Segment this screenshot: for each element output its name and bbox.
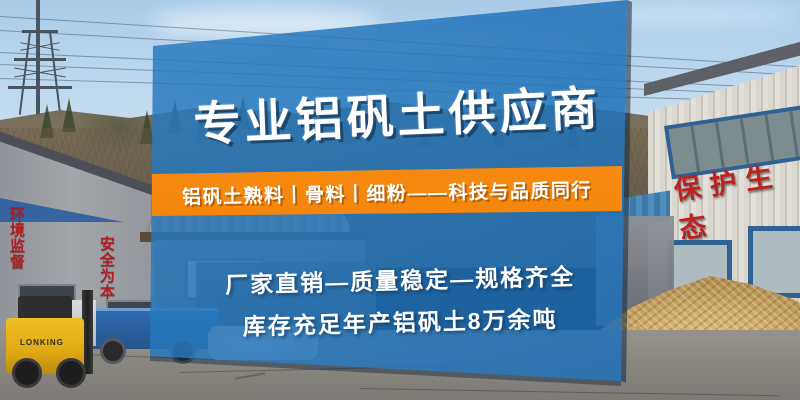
left-workshop-sign-1: 环境监督 — [6, 206, 27, 270]
promotional-banner: 环境监督 安全为本 保护生态 — [0, 0, 800, 400]
orange-slogan-text: 铝矾土熟料丨骨料丨细粉——科技与品质同行 — [152, 172, 623, 220]
forklift-wheel — [56, 358, 86, 388]
forklift-wheel — [12, 358, 42, 388]
